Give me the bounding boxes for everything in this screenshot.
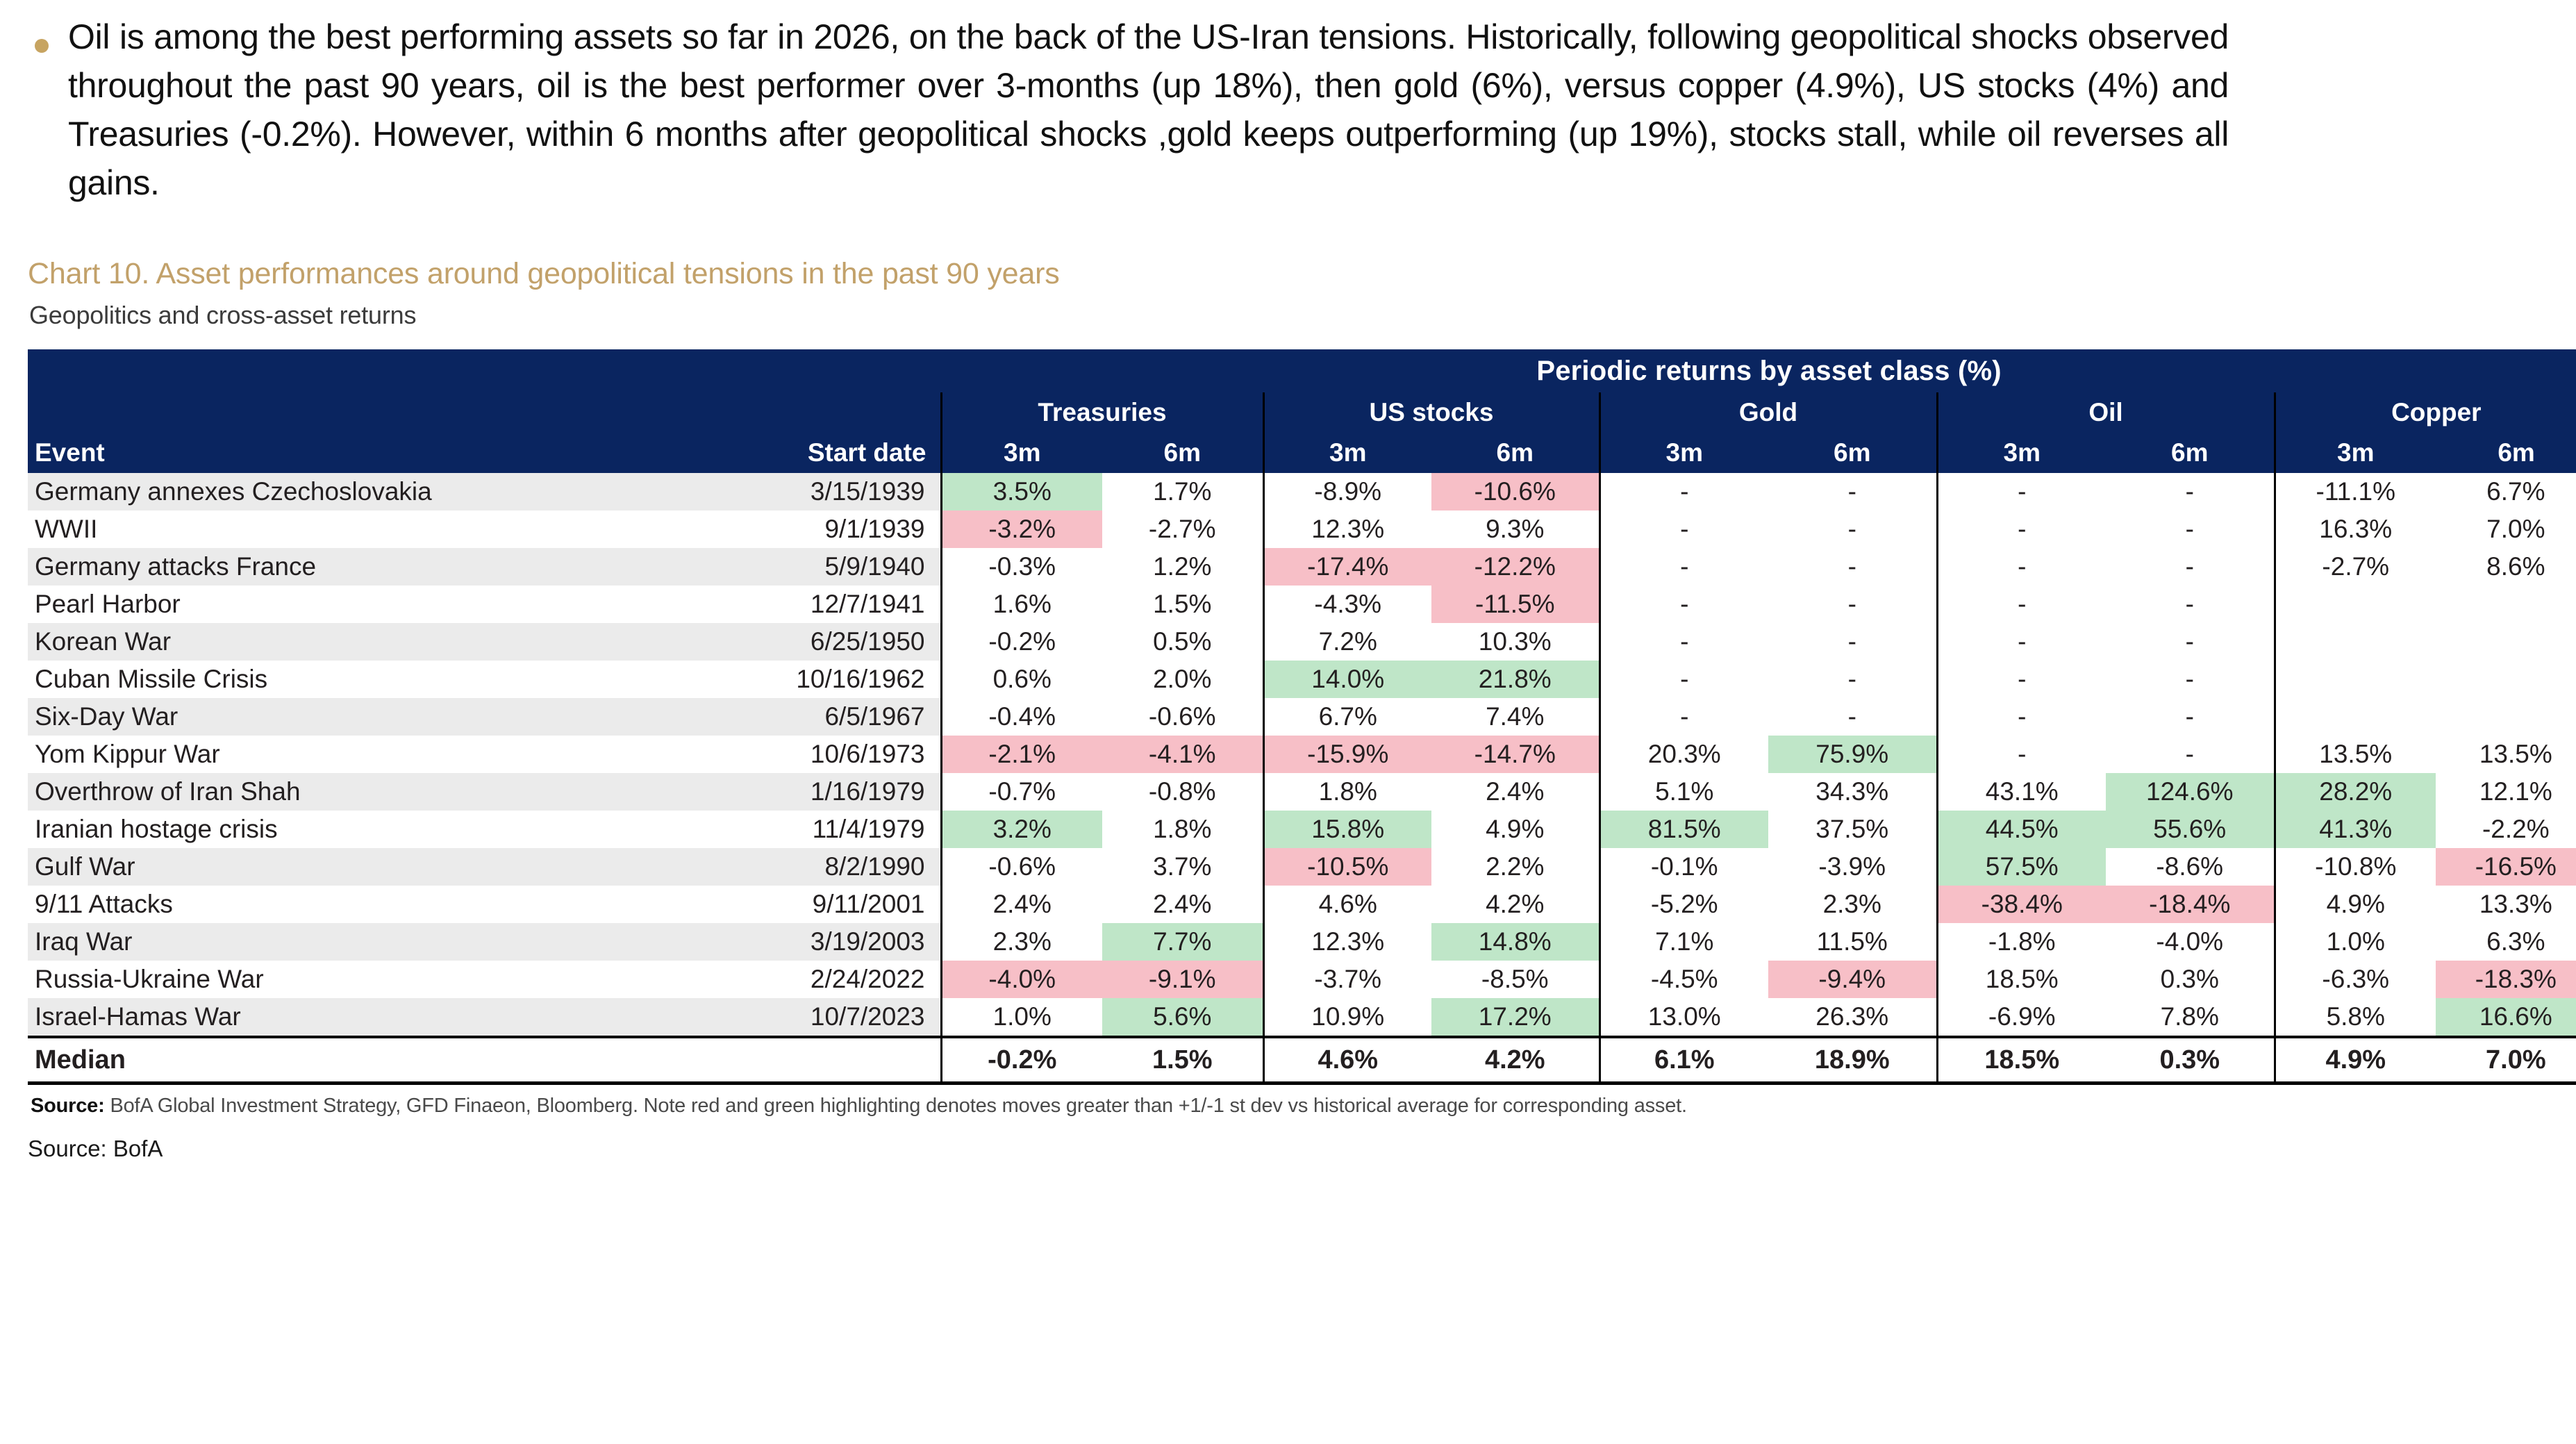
cell-value: 4.9% [1431,811,1599,848]
cell-value: -6.3% [2275,961,2436,998]
cell-value: -9.1% [1102,961,1263,998]
cell-value: 5.1% [1599,773,1768,811]
cell-value: 44.5% [1937,811,2106,848]
cell-value: - [1937,661,2106,698]
cell-value: 34.3% [1768,773,1937,811]
cell-value: 2.4% [1431,773,1599,811]
cell-value: 13.3% [2436,886,2576,923]
cell-value: - [2106,586,2275,623]
cell-value: 75.9% [1768,736,1937,773]
cell-event: Six-Day War [28,698,611,736]
median-value: -0.2% [941,1037,1102,1084]
group-us-stocks: US stocks [1263,392,1599,433]
cell-value: - [2106,511,2275,548]
bullet-dot-icon [35,39,49,53]
cell-value: -4.5% [1599,961,1768,998]
cell-value: -14.7% [1431,736,1599,773]
table-row: WWII9/1/1939-3.2%-2.7%12.3%9.3%----16.3%… [28,511,2576,548]
cell-value: -11.1% [2275,473,2436,511]
chart-subtitle: Geopolitics and cross-asset returns [0,291,2576,330]
cell-value: -4.0% [2106,923,2275,961]
cell-start-date: 8/2/1990 [611,848,941,886]
performance-table-wrapper: Periodic returns by asset class (%) Trea… [0,330,2576,1085]
banner-spacer [28,349,941,392]
cell-value: - [2106,548,2275,586]
cell-value: -8.9% [1263,473,1431,511]
cell-value: -0.1% [1599,848,1768,886]
cell-value: - [1599,511,1768,548]
group-treasuries: Treasuries [941,392,1263,433]
cell-value: 8.6% [2436,548,2576,586]
col-header-treasuries-6m: 6m [1102,433,1263,473]
cell-value: 7.8% [2106,998,2275,1037]
cell-value: -10.5% [1263,848,1431,886]
cell-value: 3.7% [1102,848,1263,886]
cell-event: Germany annexes Czechoslovakia [28,473,611,511]
cell-value: 12.3% [1263,923,1431,961]
cell-value: 43.1% [1937,773,2106,811]
cell-value: -2.2% [2436,811,2576,848]
cell-value: - [1599,661,1768,698]
table-row: Overthrow of Iran Shah1/16/1979-0.7%-0.8… [28,773,2576,811]
table-row: Germany attacks France5/9/1940-0.3%1.2%-… [28,548,2576,586]
cell-value: - [1937,698,2106,736]
table-row: Iranian hostage crisis11/4/19793.2%1.8%1… [28,811,2576,848]
cell-value: 6.7% [1263,698,1431,736]
cell-value: 6.7% [2436,473,2576,511]
bullet-paragraph: Oil is among the best performing assets … [0,0,2576,207]
cell-event: Yom Kippur War [28,736,611,773]
cell-value: - [1599,623,1768,661]
cell-value: 55.6% [2106,811,2275,848]
cell-value: 1.7% [1102,473,1263,511]
cell-value: -15.9% [1263,736,1431,773]
cell-value: 3.5% [941,473,1102,511]
cell-value: -4.0% [941,961,1102,998]
cell-value: -18.3% [2436,961,2576,998]
cell-value: 14.8% [1431,923,1599,961]
group-gold: Gold [1599,392,1937,433]
cell-value: -18.4% [2106,886,2275,923]
cell-value: -2.7% [1102,511,1263,548]
table-row: Germany annexes Czechoslovakia3/15/19393… [28,473,2576,511]
cell-value: 16.3% [2275,511,2436,548]
cell-start-date: 3/15/1939 [611,473,941,511]
cell-value: -9.4% [1768,961,1937,998]
group-spacer [28,392,941,433]
cell-value: 1.5% [1102,586,1263,623]
table-row: Six-Day War6/5/1967-0.4%-0.6%6.7%7.4%---… [28,698,2576,736]
median-value: 18.5% [1937,1037,2106,1084]
cell-value: 1.6% [941,586,1102,623]
cell-value: 5.6% [1102,998,1263,1037]
cell-value: 81.5% [1599,811,1768,848]
cell-value: - [2106,698,2275,736]
cell-value: 11.5% [1768,923,1937,961]
cell-value: - [1937,736,2106,773]
cell-value [2275,586,2436,623]
cell-value: 2.4% [1102,886,1263,923]
cell-start-date: 10/6/1973 [611,736,941,773]
table-header: Periodic returns by asset class (%) Trea… [28,349,2576,473]
cell-value: - [1768,511,1937,548]
group-copper: Copper [2275,392,2576,433]
table-row: Russia-Ukraine War2/24/2022-4.0%-9.1%-3.… [28,961,2576,998]
median-value: 4.2% [1431,1037,1599,1084]
footnote-label: Source: [31,1095,105,1117]
cell-value: -10.8% [2275,848,2436,886]
cell-value: 17.2% [1431,998,1599,1037]
col-header-usstocks-6m: 6m [1431,433,1599,473]
table-row: Korean War6/25/1950-0.2%0.5%7.2%10.3%---… [28,623,2576,661]
cell-value: -17.4% [1263,548,1431,586]
cell-value: - [1937,473,2106,511]
cell-value: - [1768,548,1937,586]
cell-value: 57.5% [1937,848,2106,886]
cell-start-date: 10/7/2023 [611,998,941,1037]
cell-event: Germany attacks France [28,548,611,586]
col-header-copper-3m: 3m [2275,433,2436,473]
cell-value: - [1599,698,1768,736]
median-value: 1.5% [1102,1037,1263,1084]
median-value: 7.0% [2436,1037,2576,1084]
cell-event: Korean War [28,623,611,661]
cell-value: 7.1% [1599,923,1768,961]
cell-value: - [1937,586,2106,623]
cell-start-date: 1/16/1979 [611,773,941,811]
cell-value: 6.3% [2436,923,2576,961]
cell-value: 0.3% [2106,961,2275,998]
cell-value: -2.1% [941,736,1102,773]
cell-start-date: 9/1/1939 [611,511,941,548]
cell-value: -12.2% [1431,548,1599,586]
cell-value: 13.5% [2436,736,2576,773]
cell-value: -8.6% [2106,848,2275,886]
cell-value: -0.7% [941,773,1102,811]
cell-start-date: 12/7/1941 [611,586,941,623]
cell-value: 18.5% [1937,961,2106,998]
cell-value: - [2106,661,2275,698]
cell-value: 20.3% [1599,736,1768,773]
cell-value: - [1937,511,2106,548]
cell-value: 2.0% [1102,661,1263,698]
col-header-oil-3m: 3m [1937,433,2106,473]
cell-value: -0.6% [941,848,1102,886]
table-row: Israel-Hamas War10/7/20231.0%5.6%10.9%17… [28,998,2576,1037]
cell-value: - [1599,473,1768,511]
table-row: 9/11 Attacks9/11/20012.4%2.4%4.6%4.2%-5.… [28,886,2576,923]
cell-value: 2.4% [941,886,1102,923]
cell-value [2436,623,2576,661]
cell-start-date: 2/24/2022 [611,961,941,998]
cell-value: -1.8% [1937,923,2106,961]
cell-value: 2.3% [941,923,1102,961]
cell-event: Iranian hostage crisis [28,811,611,848]
cell-value: 1.0% [2275,923,2436,961]
cell-value: - [1599,586,1768,623]
cell-value: - [1768,661,1937,698]
median-date-spacer [611,1037,941,1084]
cell-value: 37.5% [1768,811,1937,848]
median-value: 4.9% [2275,1037,2436,1084]
cell-value: - [1768,586,1937,623]
cell-value: 7.7% [1102,923,1263,961]
cell-value: 26.3% [1768,998,1937,1037]
cell-value: 10.3% [1431,623,1599,661]
cell-start-date: 11/4/1979 [611,811,941,848]
cell-value: -3.2% [941,511,1102,548]
banner-title: Periodic returns by asset class (%) [941,349,2576,392]
cell-value: 1.2% [1102,548,1263,586]
cell-value: 0.6% [941,661,1102,698]
cell-value: -2.7% [2275,548,2436,586]
cell-value: - [2106,736,2275,773]
cell-value: -3.9% [1768,848,1937,886]
table-footer: Median-0.2%1.5%4.6%4.2%6.1%18.9%18.5%0.3… [28,1037,2576,1084]
cell-value: -5.2% [1599,886,1768,923]
group-oil: Oil [1937,392,2275,433]
cell-start-date: 3/19/2003 [611,923,941,961]
cell-value: 16.6% [2436,998,2576,1037]
table-row: Gulf War8/2/1990-0.6%3.7%-10.5%2.2%-0.1%… [28,848,2576,886]
median-value: 4.6% [1263,1037,1431,1084]
col-header-gold-6m: 6m [1768,433,1937,473]
cell-start-date: 6/5/1967 [611,698,941,736]
cell-value: - [1768,473,1937,511]
cell-value: 4.9% [2275,886,2436,923]
cell-value: 10.9% [1263,998,1431,1037]
table-body: Germany annexes Czechoslovakia3/15/19393… [28,473,2576,1037]
cell-value: -6.9% [1937,998,2106,1037]
col-header-treasuries-3m: 3m [941,433,1102,473]
cell-value [2436,586,2576,623]
cell-value: - [1937,548,2106,586]
cell-value: 7.2% [1263,623,1431,661]
cell-value: 14.0% [1263,661,1431,698]
col-header-gold-3m: 3m [1599,433,1768,473]
source-bottom: Source: BofA [0,1118,2576,1162]
cell-value: - [2106,623,2275,661]
cell-value: 21.8% [1431,661,1599,698]
cell-start-date: 6/25/1950 [611,623,941,661]
cell-value: -3.7% [1263,961,1431,998]
cell-value: 7.4% [1431,698,1599,736]
table-row: Yom Kippur War10/6/1973-2.1%-4.1%-15.9%-… [28,736,2576,773]
cell-value: -10.6% [1431,473,1599,511]
cell-event: Israel-Hamas War [28,998,611,1037]
cell-value: 1.0% [941,998,1102,1037]
cell-value [2436,698,2576,736]
table-row: Iraq War3/19/20032.3%7.7%12.3%14.8%7.1%1… [28,923,2576,961]
cell-value: -4.1% [1102,736,1263,773]
group-header-row: Treasuries US stocks Gold Oil Copper [28,392,2576,433]
cell-event: Iraq War [28,923,611,961]
cell-value: 2.2% [1431,848,1599,886]
cell-value: 1.8% [1102,811,1263,848]
subheader-row: Event Start date 3m 6m 3m 6m 3m 6m 3m 6m… [28,433,2576,473]
cell-value: 12.1% [2436,773,2576,811]
cell-event: Overthrow of Iran Shah [28,773,611,811]
cell-value: 4.2% [1431,886,1599,923]
cell-value [2275,698,2436,736]
cell-value: 13.0% [1599,998,1768,1037]
cell-value: 124.6% [2106,773,2275,811]
cell-value [2275,623,2436,661]
cell-value: 4.6% [1263,886,1431,923]
cell-value: -0.4% [941,698,1102,736]
cell-value: -0.2% [941,623,1102,661]
cell-value: 41.3% [2275,811,2436,848]
cell-event: 9/11 Attacks [28,886,611,923]
cell-value: -0.6% [1102,698,1263,736]
performance-table: Periodic returns by asset class (%) Trea… [28,349,2576,1085]
cell-value: 3.2% [941,811,1102,848]
cell-value: -0.3% [941,548,1102,586]
cell-value: 1.8% [1263,773,1431,811]
cell-start-date: 5/9/1940 [611,548,941,586]
cell-event: Pearl Harbor [28,586,611,623]
cell-value: -16.5% [2436,848,2576,886]
cell-event: Gulf War [28,848,611,886]
cell-value: 28.2% [2275,773,2436,811]
bullet-text: Oil is among the best performing assets … [68,13,2229,207]
cell-value: 13.5% [2275,736,2436,773]
cell-value: 7.0% [2436,511,2576,548]
cell-event: WWII [28,511,611,548]
median-row: Median-0.2%1.5%4.6%4.2%6.1%18.9%18.5%0.3… [28,1037,2576,1084]
col-header-copper-6m: 6m [2436,433,2576,473]
cell-value: -38.4% [1937,886,2106,923]
cell-event: Cuban Missile Crisis [28,661,611,698]
col-header-start-date: Start date [611,433,941,473]
cell-value: 12.3% [1263,511,1431,548]
cell-start-date: 9/11/2001 [611,886,941,923]
cell-value: 5.8% [2275,998,2436,1037]
cell-value: - [1599,548,1768,586]
cell-value: 2.3% [1768,886,1937,923]
cell-value [2275,661,2436,698]
banner-row: Periodic returns by asset class (%) [28,349,2576,392]
cell-value: 15.8% [1263,811,1431,848]
table-footnote: Source: BofA Global Investment Strategy,… [0,1085,2576,1118]
cell-event: Russia-Ukraine War [28,961,611,998]
chart-title: Chart 10. Asset performances around geop… [0,207,2576,291]
cell-value: 9.3% [1431,511,1599,548]
col-header-oil-6m: 6m [2106,433,2275,473]
median-value: 0.3% [2106,1037,2275,1084]
col-header-usstocks-3m: 3m [1263,433,1431,473]
table-row: Pearl Harbor12/7/19411.6%1.5%-4.3%-11.5%… [28,586,2576,623]
median-label: Median [28,1037,611,1084]
cell-value [2436,661,2576,698]
cell-value: - [2106,473,2275,511]
footnote-text: BofA Global Investment Strategy, GFD Fin… [110,1095,1686,1117]
cell-start-date: 10/16/1962 [611,661,941,698]
cell-value: 0.5% [1102,623,1263,661]
cell-value: -8.5% [1431,961,1599,998]
cell-value: - [1937,623,2106,661]
median-value: 6.1% [1599,1037,1768,1084]
cell-value: -11.5% [1431,586,1599,623]
cell-value: - [1768,623,1937,661]
median-value: 18.9% [1768,1037,1937,1084]
col-header-event: Event [28,433,611,473]
cell-value: -4.3% [1263,586,1431,623]
cell-value: -0.8% [1102,773,1263,811]
cell-value: - [1768,698,1937,736]
table-row: Cuban Missile Crisis10/16/19620.6%2.0%14… [28,661,2576,698]
